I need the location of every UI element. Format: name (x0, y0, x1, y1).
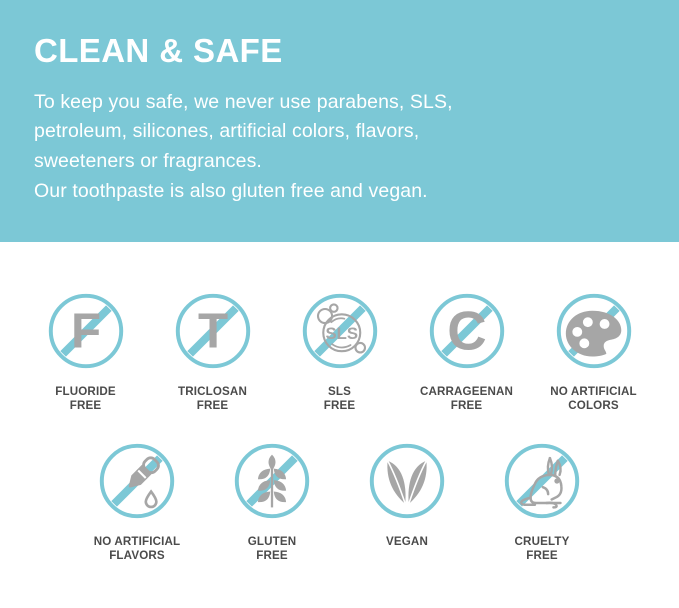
badge-label: NO ARTIFICIAL FLAVORS (94, 535, 181, 563)
badge-label: GLUTEN FREE (248, 535, 297, 563)
badge-no-artificial-flavors: NO ARTIFICIAL FLAVORS (70, 437, 205, 563)
vegan-leaves-icon (363, 437, 451, 525)
badge-gluten-free: GLUTEN FREE (205, 437, 340, 563)
badge-fluoride-free: F FLUORIDE FREE (22, 287, 149, 413)
badge-label: VEGAN (386, 535, 428, 549)
badge-label: CARRAGEENAN FREE (420, 385, 513, 413)
badge-row-1: F FLUORIDE FREE T TRICLOSAN FREE (0, 242, 679, 413)
hero-description-line: sweeteners or fragrances. (34, 147, 645, 177)
badge-no-artificial-colors: NO ARTIFICIAL COLORS (530, 287, 657, 413)
badge-label: TRICLOSAN FREE (178, 385, 247, 413)
no-gluten-wheat-icon (228, 437, 316, 525)
svg-text:C: C (447, 301, 486, 362)
hero-description-line: Our toothpaste is also gluten free and v… (34, 177, 645, 207)
hero-description-line: petroleum, silicones, artificial colors,… (34, 117, 645, 147)
badge-vegan: VEGAN (340, 437, 475, 563)
badge-label: SLS FREE (324, 385, 356, 413)
no-artificial-colors-palette-icon (550, 287, 638, 375)
hero-description-line: To keep you safe, we never use parabens,… (34, 88, 645, 118)
svg-text:F: F (70, 304, 100, 359)
no-fluoride-icon: F (42, 287, 130, 375)
badge-carrageenan-free: C CARRAGEENAN FREE (403, 287, 530, 413)
badge-grid: F FLUORIDE FREE T TRICLOSAN FREE (0, 242, 679, 608)
clean-and-safe-infographic: CLEAN & SAFE To keep you safe, we never … (0, 0, 679, 608)
badge-sls-free: SLS SLS FREE (276, 287, 403, 413)
svg-text:T: T (197, 304, 227, 359)
badge-cruelty-free: CRUELTY FREE (475, 437, 610, 563)
badge-label: NO ARTIFICIAL COLORS (550, 385, 637, 413)
no-carrageenan-icon: C (423, 287, 511, 375)
badge-label: CRUELTY FREE (515, 535, 570, 563)
no-triclosan-icon: T (169, 287, 257, 375)
badge-triclosan-free: T TRICLOSAN FREE (149, 287, 276, 413)
no-sls-bubbles-icon: SLS (296, 287, 384, 375)
cruelty-free-rabbit-icon (498, 437, 586, 525)
hero-description: To keep you safe, we never use parabens,… (34, 88, 645, 207)
badge-label: FLUORIDE FREE (55, 385, 115, 413)
hero-banner: CLEAN & SAFE To keep you safe, we never … (0, 0, 679, 242)
badge-row-2: NO ARTIFICIAL FLAVORS (0, 413, 679, 563)
page-title: CLEAN & SAFE (34, 34, 645, 69)
svg-text:SLS: SLS (325, 324, 358, 343)
no-artificial-flavors-dropper-icon (93, 437, 181, 525)
